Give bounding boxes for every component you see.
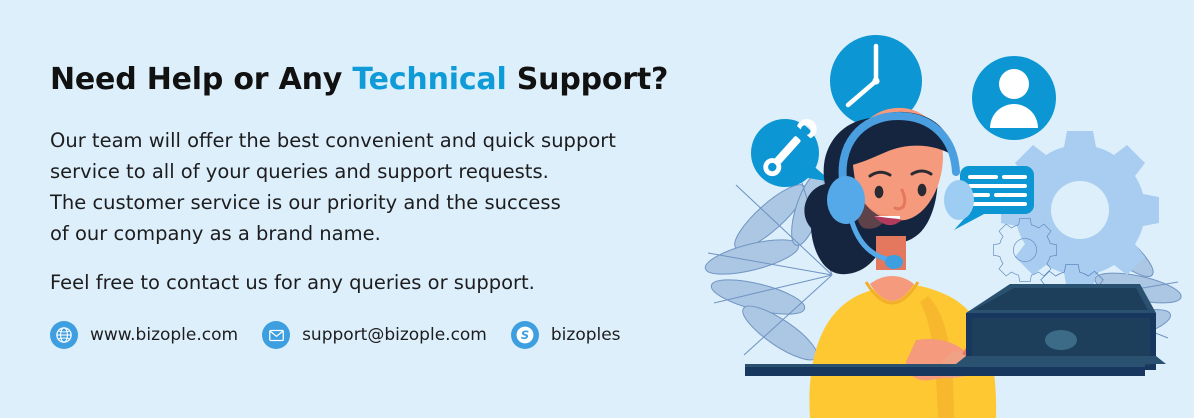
description-line: of our company as a brand name. (50, 218, 616, 249)
headline-part1: Need Help or Any (50, 62, 352, 97)
contact-row: www.bizople.com support@bizople.com S (50, 321, 645, 349)
headline-part2: Support? (507, 62, 669, 97)
page-title: Need Help or Any Technical Support? (50, 62, 668, 97)
cta-line: Feel free to contact us for any queries … (50, 267, 535, 298)
skype-icon: S (511, 321, 539, 349)
email-icon (262, 321, 290, 349)
contact-item-email[interactable]: support@bizople.com (262, 321, 487, 349)
globe-icon (50, 321, 78, 349)
contact-item-skype[interactable]: S bizoples (511, 321, 621, 349)
laptop (956, 284, 1166, 370)
contact-item-website[interactable]: www.bizople.com (50, 321, 238, 349)
user-avatar-icon (972, 56, 1056, 140)
desk (745, 364, 1145, 376)
headline-accent: Technical (352, 62, 506, 97)
contact-label-skype: bizoples (551, 325, 621, 345)
cta-paragraph: Feel free to contact us for any queries … (50, 267, 535, 298)
support-illustration (680, 0, 1194, 418)
svg-text:S: S (521, 328, 529, 342)
description-line: service to all of your queries and suppo… (50, 156, 616, 187)
support-banner: Need Help or Any Technical Support? Our … (0, 0, 1194, 418)
description-paragraph: Our team will offer the best convenient … (50, 125, 616, 249)
contact-label-email: support@bizople.com (302, 325, 487, 345)
wrench-bubble-icon (751, 115, 832, 187)
contact-label-website: www.bizople.com (90, 325, 238, 345)
banner-content: Need Help or Any Technical Support? Our … (50, 0, 750, 418)
description-line: Our team will offer the best convenient … (50, 125, 616, 156)
description-line: The customer service is our priority and… (50, 187, 616, 218)
